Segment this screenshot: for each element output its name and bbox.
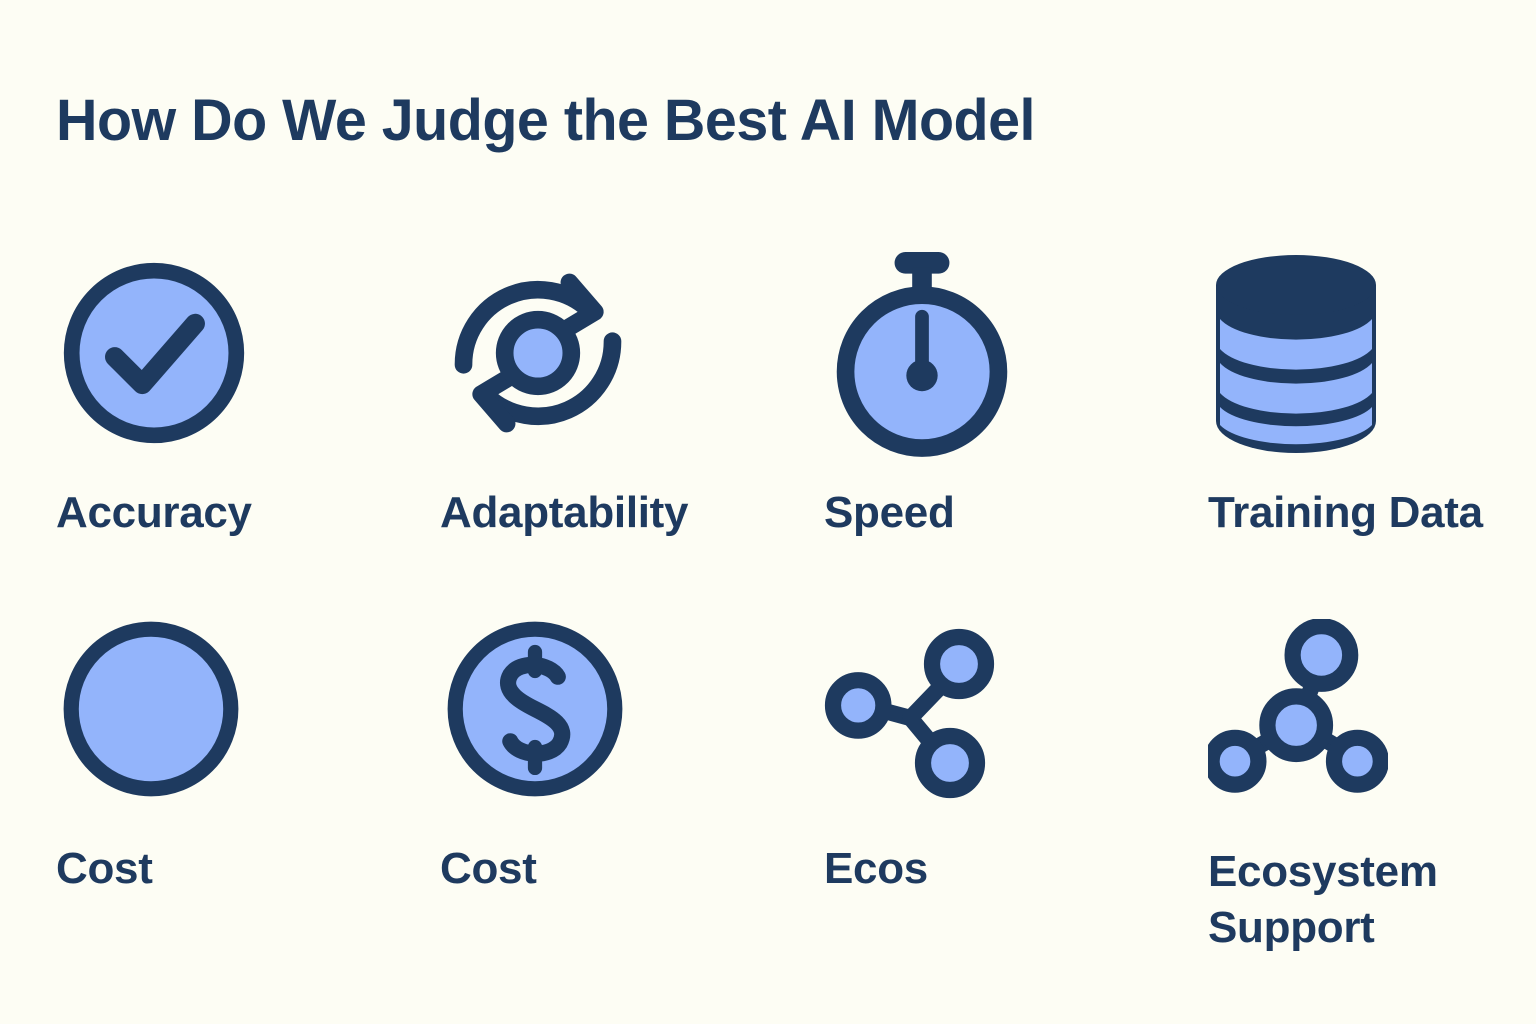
criteria-label: Accuracy xyxy=(56,488,366,537)
criteria-label: Speed xyxy=(824,488,1134,537)
criteria-item-cost-plain: Cost xyxy=(0,598,384,978)
criteria-label: Ecosystem Support xyxy=(1208,844,1518,957)
check-circle-icon xyxy=(56,238,384,468)
criteria-item-speed: Speed xyxy=(768,238,1152,598)
criteria-label-line2: Support xyxy=(1208,900,1518,956)
criteria-item-cost-dollar: Cost xyxy=(384,598,768,978)
share-network-icon xyxy=(824,598,1152,820)
criteria-item-adaptability: Adaptability xyxy=(384,238,768,598)
criteria-label: Ecos xyxy=(824,844,1134,893)
criteria-label: Cost xyxy=(56,844,366,893)
criteria-grid: Accuracy Adaptability xyxy=(0,238,1536,978)
stopwatch-icon xyxy=(824,238,1152,468)
database-icon xyxy=(1208,238,1536,468)
page-title: How Do We Judge the Best AI Model xyxy=(56,92,1035,150)
dollar-coin-icon xyxy=(440,598,768,820)
hub-network-icon xyxy=(1208,598,1536,820)
criteria-item-training-data: Training Data xyxy=(1152,238,1536,598)
infographic-poster: How Do We Judge the Best AI Model Accura… xyxy=(0,0,1536,1024)
criteria-label-line1: Ecosystem xyxy=(1208,844,1518,900)
criteria-label: Cost xyxy=(440,844,750,893)
criteria-item-accuracy: Accuracy xyxy=(0,238,384,598)
criteria-label: Adaptability xyxy=(440,488,750,537)
criteria-label: Training Data xyxy=(1208,488,1518,537)
filled-circle-icon xyxy=(56,598,384,820)
criteria-item-ecosystem-short: Ecos xyxy=(768,598,1152,978)
refresh-cycle-icon xyxy=(440,238,768,468)
criteria-item-ecosystem-support: Ecosystem Support xyxy=(1152,598,1536,978)
